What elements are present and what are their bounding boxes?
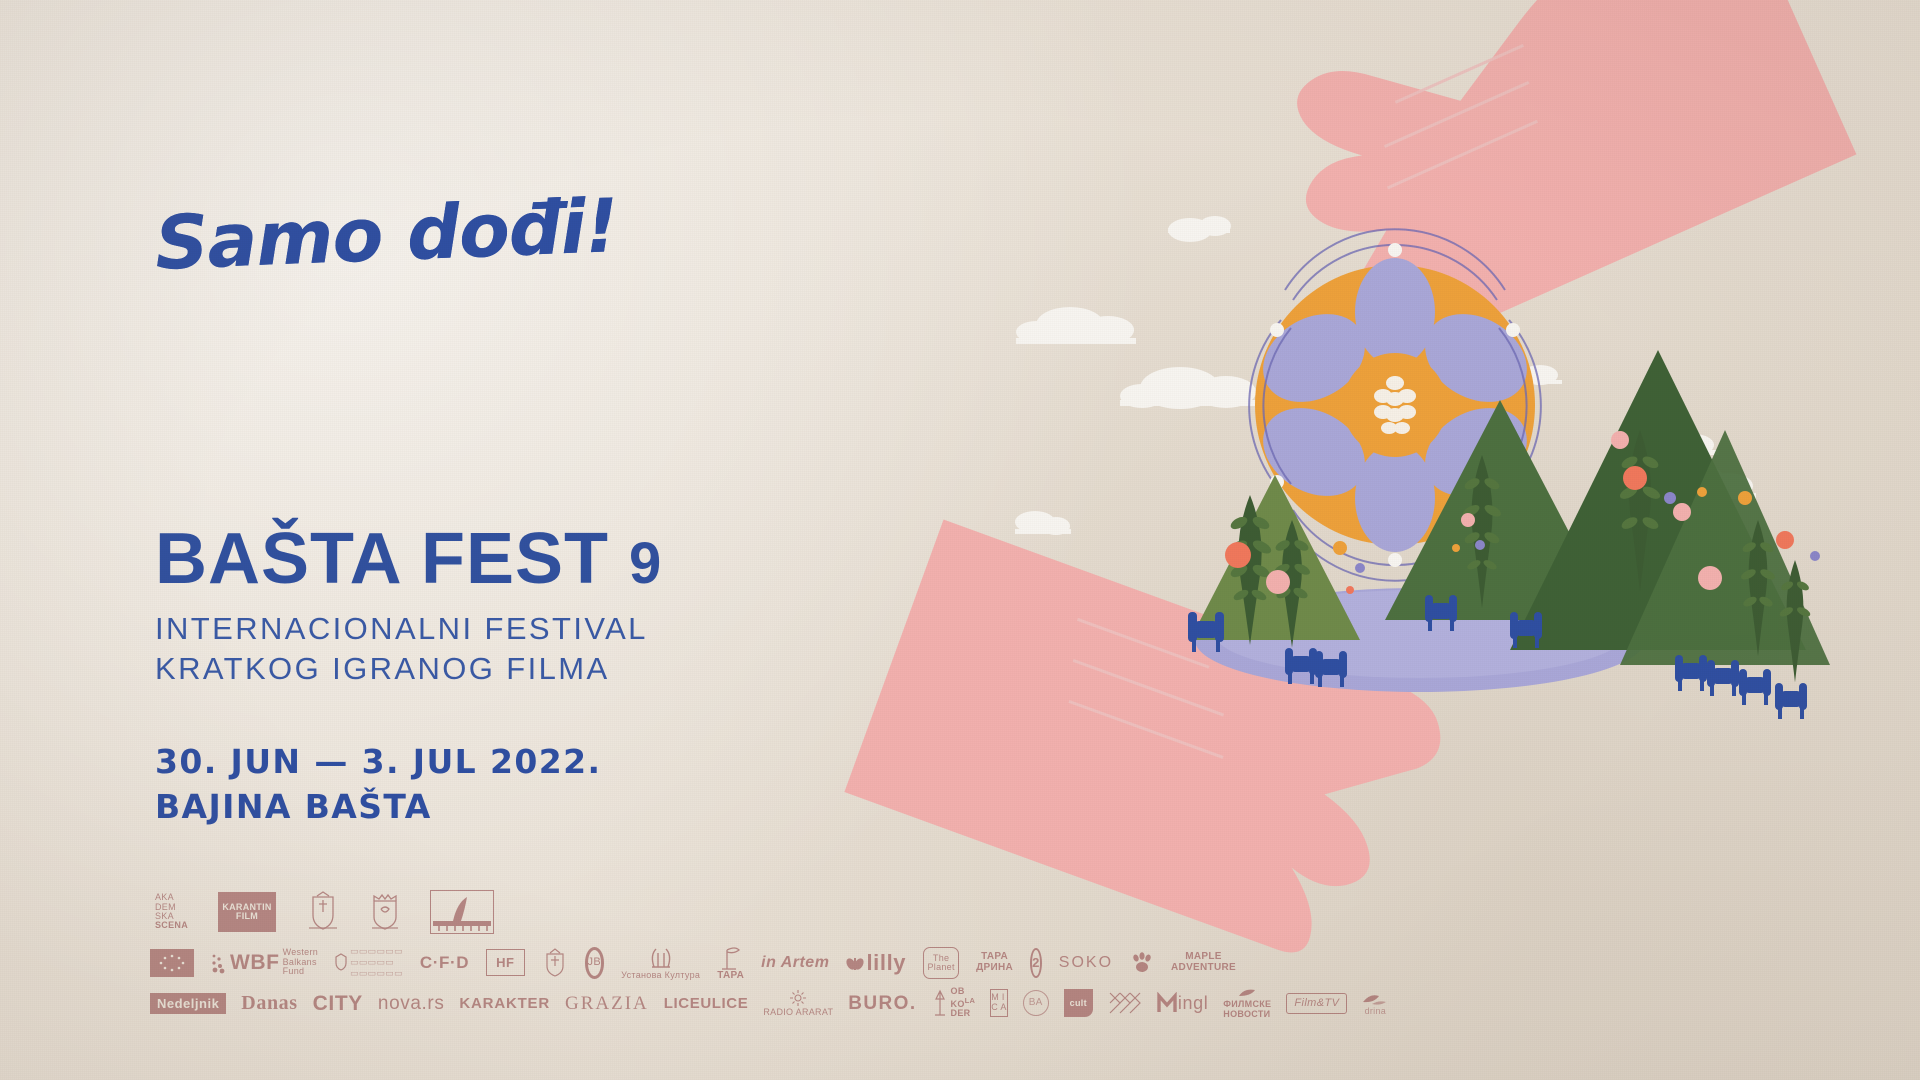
- sponsor-text: lilly: [866, 952, 906, 974]
- subtitle: INTERNACIONALNI FESTIVAL KRATKOG IGRANOG…: [155, 609, 661, 688]
- sponsor-logo-oblakoder[interactable]: OBKOLADER: [932, 987, 976, 1019]
- sponsor-logo-grad-bajina-basta[interactable]: [370, 891, 400, 933]
- sponsor-text: ingl: [1178, 994, 1208, 1012]
- sponsor-logo-cfd[interactable]: C·F·D: [420, 954, 469, 971]
- sponsor-subtext: ФИЛМСКЕНОВОСТИ: [1223, 1000, 1271, 1019]
- sponsor-logo-hf[interactable]: HF: [486, 949, 524, 976]
- sponsor-logo-ministarstvo-kulture[interactable]: [306, 891, 340, 933]
- sponsor-logo-nedeljnik[interactable]: Nedeljnik: [150, 993, 226, 1014]
- sponsor-logos: AKA DEM SKA SCENA KARANTIN FILM: [150, 890, 1070, 1025]
- festival-poster: Samo dođi! BAŠTA FEST 9 INTERNACIONALNI …: [0, 0, 1920, 1080]
- sponsor-subtext: Установа Култура: [621, 971, 700, 980]
- sponsor-logo-filmski-centar-srbije[interactable]: [430, 890, 494, 934]
- sponsor-text: ADVENTURE: [1171, 963, 1236, 974]
- tagline: Samo dođi!: [154, 183, 620, 287]
- sponsor-logo-cult[interactable]: cult: [1064, 989, 1093, 1017]
- sponsor-logo-filmske-novosti[interactable]: ФИЛМСКЕНОВОСТИ: [1223, 987, 1271, 1019]
- sponsor-logo-lilly[interactable]: lilly: [846, 952, 906, 974]
- sponsor-logo-wbf[interactable]: WBF WesternBalkansFund: [211, 948, 318, 976]
- title-edition: 9: [629, 536, 661, 591]
- when-where-block: 30. JUN — 3. JUL 2022. BAJINA BAŠTA: [155, 740, 601, 830]
- page-title: BAŠTA FEST 9: [155, 525, 661, 593]
- sponsor-row-3: Nedeljnik Danas CITY nova.rs KARAKTER GR…: [150, 987, 1070, 1019]
- title-block: BAŠTA FEST 9 INTERNACIONALNI FESTIVAL KR…: [155, 525, 661, 689]
- sponsor-row-2: WBF WesternBalkansFund ▭▭▭▭▭▭▭▭▭▭▭▭▭▭▭▭▭…: [150, 944, 1070, 981]
- sponsor-text: SCENA: [155, 921, 188, 930]
- sponsor-logo-karantin-film[interactable]: KARANTIN FILM: [218, 892, 276, 932]
- sponsor-logo-dva[interactable]: 2: [1030, 948, 1042, 978]
- sponsor-logo-jb[interactable]: JB: [585, 947, 605, 979]
- sponsor-logo-the-planet[interactable]: The Planet: [923, 947, 959, 979]
- sponsor-logo-maple-adventure[interactable]: MAPLE ADVENTURE: [1171, 952, 1236, 973]
- sponsor-text: BA: [1023, 990, 1049, 1016]
- festival-location: BAJINA BAŠTA: [155, 785, 601, 830]
- sponsor-text: WBF: [230, 952, 280, 973]
- sponsor-logo-film-tv[interactable]: Film&TV: [1286, 993, 1347, 1014]
- sponsor-logo-radio-ararat[interactable]: RADIO ARARAT: [763, 989, 833, 1017]
- sponsor-row-1: AKA DEM SKA SCENA KARANTIN FILM: [150, 890, 1070, 934]
- sponsor-logo-un[interactable]: ▭▭▭▭▭▭▭▭▭▭▭▭▭▭▭▭▭: [335, 946, 403, 978]
- sponsor-logo-green-paw[interactable]: [1130, 951, 1154, 975]
- title-main: BAŠTA FEST: [155, 525, 609, 593]
- sponsor-logo-danas[interactable]: Danas: [241, 993, 297, 1013]
- festival-dates: 30. JUN — 3. JUL 2022.: [155, 740, 601, 785]
- sponsor-subtext: ▭▭▭▭▭▭▭▭▭▭▭▭▭▭▭▭▭: [350, 946, 403, 978]
- sponsor-logo-ministarstvo[interactable]: [542, 946, 568, 980]
- sponsor-logo-kulturni-centar[interactable]: [1108, 989, 1142, 1017]
- sponsor-logo-evropska-unija[interactable]: [150, 949, 194, 977]
- sponsor-logo-ba[interactable]: BA: [1023, 990, 1049, 1016]
- sponsor-logo-drina[interactable]: drina: [1362, 990, 1388, 1016]
- sponsor-logo-akademska-scena[interactable]: AKA DEM SKA SCENA: [155, 893, 188, 931]
- sponsor-subtext: OBKOLADER: [951, 987, 976, 1019]
- sponsor-logo-tara-drina[interactable]: ТАРА ДРИНА: [976, 952, 1013, 974]
- sponsor-logo-liceulice[interactable]: LICEULICE: [664, 996, 749, 1011]
- sponsor-logo-soko[interactable]: SOKO: [1059, 955, 1113, 971]
- subtitle-line-1: INTERNACIONALNI FESTIVAL: [155, 609, 661, 649]
- sponsor-logo-buro[interactable]: BURO.: [848, 994, 916, 1013]
- subtitle-line-2: KRATKOG IGRANOG FILMA: [155, 649, 661, 689]
- sponsor-logo-city[interactable]: CITY: [313, 993, 363, 1014]
- sponsor-subtext: WesternBalkansFund: [283, 948, 318, 976]
- sponsor-logo-in-artem[interactable]: in Artem: [761, 955, 829, 971]
- sponsor-logo-mica[interactable]: M IC A: [990, 989, 1007, 1017]
- sponsor-text: ТАРА: [981, 952, 1008, 963]
- sponsor-text: MAPLE: [1185, 952, 1222, 963]
- sponsor-logo-ustanova-kultura[interactable]: Установа Култура: [621, 945, 700, 980]
- sponsor-subtext: drina: [1365, 1007, 1387, 1016]
- sponsor-text: RADIO ARARAT: [763, 1008, 833, 1017]
- sponsor-logo-nova-rs[interactable]: nova.rs: [378, 994, 445, 1013]
- sponsor-logo-tara[interactable]: ТАРА: [717, 944, 744, 981]
- sponsor-logo-karakter[interactable]: KARAKTER: [459, 996, 550, 1011]
- sponsor-text: ДРИНА: [976, 963, 1013, 974]
- sponsor-logo-mingl[interactable]: ingl: [1157, 992, 1208, 1014]
- sponsor-text: ТАРА: [717, 971, 744, 981]
- sponsor-text: M IC A: [991, 993, 1006, 1013]
- sponsor-logo-grazia[interactable]: GRAZIA: [565, 994, 649, 1013]
